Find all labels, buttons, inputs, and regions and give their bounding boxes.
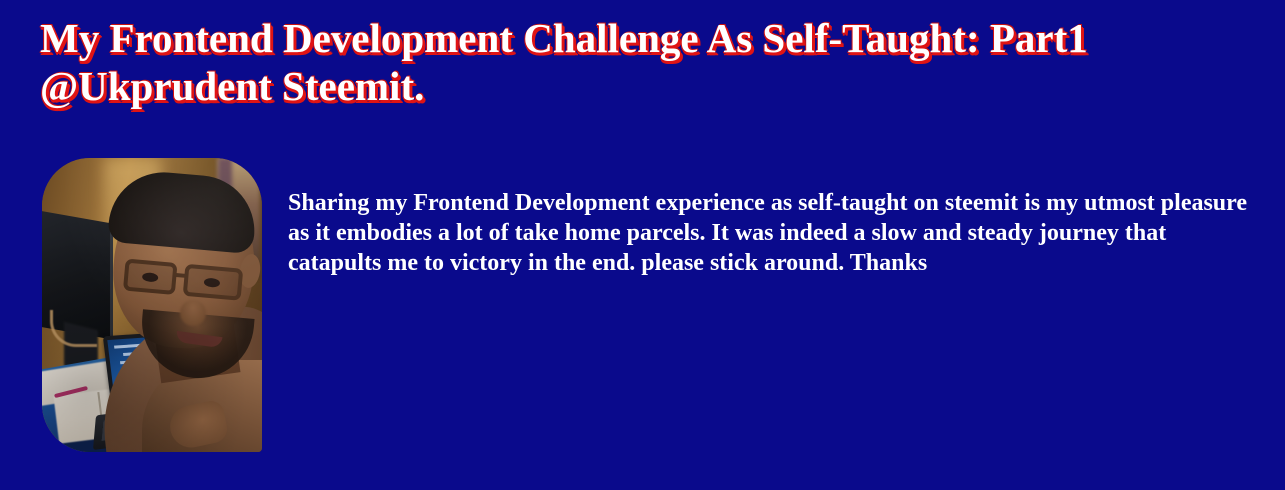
photo-person-nose (180, 300, 206, 326)
title-line-2: @Ukprudent Steemit. (40, 62, 1260, 110)
intro-paragraph: Sharing my Frontend Development experien… (288, 188, 1256, 278)
post-banner: My Frontend Development Challenge As Sel… (0, 0, 1285, 490)
page-title: My Frontend Development Challenge As Sel… (40, 14, 1260, 110)
author-photo (42, 158, 262, 452)
title-line-1: My Frontend Development Challenge As Sel… (40, 14, 1260, 62)
photo-canvas (42, 158, 262, 452)
intro-text-block: Sharing my Frontend Development experien… (288, 188, 1256, 278)
